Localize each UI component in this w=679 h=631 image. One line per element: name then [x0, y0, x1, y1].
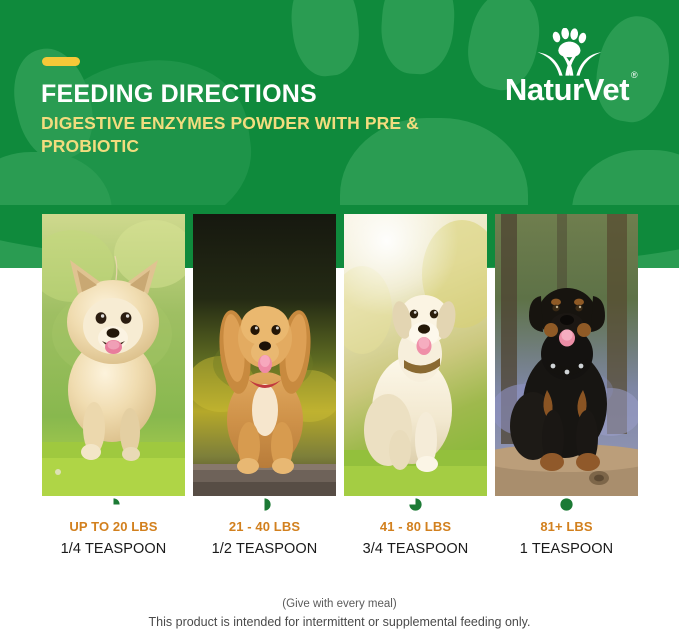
dose-amount-label: 1/2 TEASPOON — [193, 541, 336, 557]
dog-photo-panel — [344, 214, 487, 496]
dose-amount-label: 1 TEASPOON — [495, 541, 638, 557]
accent-bar — [42, 57, 80, 66]
paw-watermark-toe-1 — [287, 0, 364, 79]
dosage-column: 21 - 40 LBS 1/2 TEASPOON — [193, 498, 336, 557]
page-subtitle: DIGESTIVE ENZYMES POWDER WITH PRE & PROB… — [41, 112, 421, 158]
footer-note: (Give with every meal) — [0, 596, 679, 613]
page-title: FEEDING DIRECTIONS — [41, 80, 317, 109]
dose-fill-three-quarter-icon — [409, 498, 422, 511]
dose-amount-label: 1/4 TEASPOON — [42, 541, 185, 557]
dose-fill-half-icon — [258, 498, 271, 511]
dog-photo-panel — [495, 214, 638, 496]
brand-logo: NaturVet ® — [487, 28, 647, 120]
weight-range-label: UP TO 20 LBS — [42, 519, 185, 534]
weight-range-label: 41 - 80 LBS — [344, 519, 487, 534]
brand-wordmark: NaturVet — [487, 72, 647, 108]
paw-print-grass-icon — [529, 28, 605, 76]
registered-trademark-mark: ® — [631, 70, 638, 80]
footer: (Give with every meal) This product is i… — [0, 596, 679, 631]
footer-disclaimer: This product is intended for intermitten… — [0, 613, 679, 631]
dog-photo-panel — [193, 214, 336, 496]
dog-photo-panel — [42, 214, 185, 496]
dosage-column: 81+ LBS 1 TEASPOON — [495, 498, 638, 557]
paw-watermark-toe-2 — [378, 0, 457, 76]
dose-amount-label: 3/4 TEASPOON — [344, 541, 487, 557]
dose-fill-quarter-icon — [107, 498, 120, 511]
dosage-column: 41 - 80 LBS 3/4 TEASPOON — [344, 498, 487, 557]
dosage-column: UP TO 20 LBS 1/4 TEASPOON — [42, 498, 185, 557]
dog-photo-strip — [0, 214, 679, 496]
dose-fill-full-icon — [560, 498, 573, 511]
weight-range-label: 21 - 40 LBS — [193, 519, 336, 534]
weight-range-label: 81+ LBS — [495, 519, 638, 534]
